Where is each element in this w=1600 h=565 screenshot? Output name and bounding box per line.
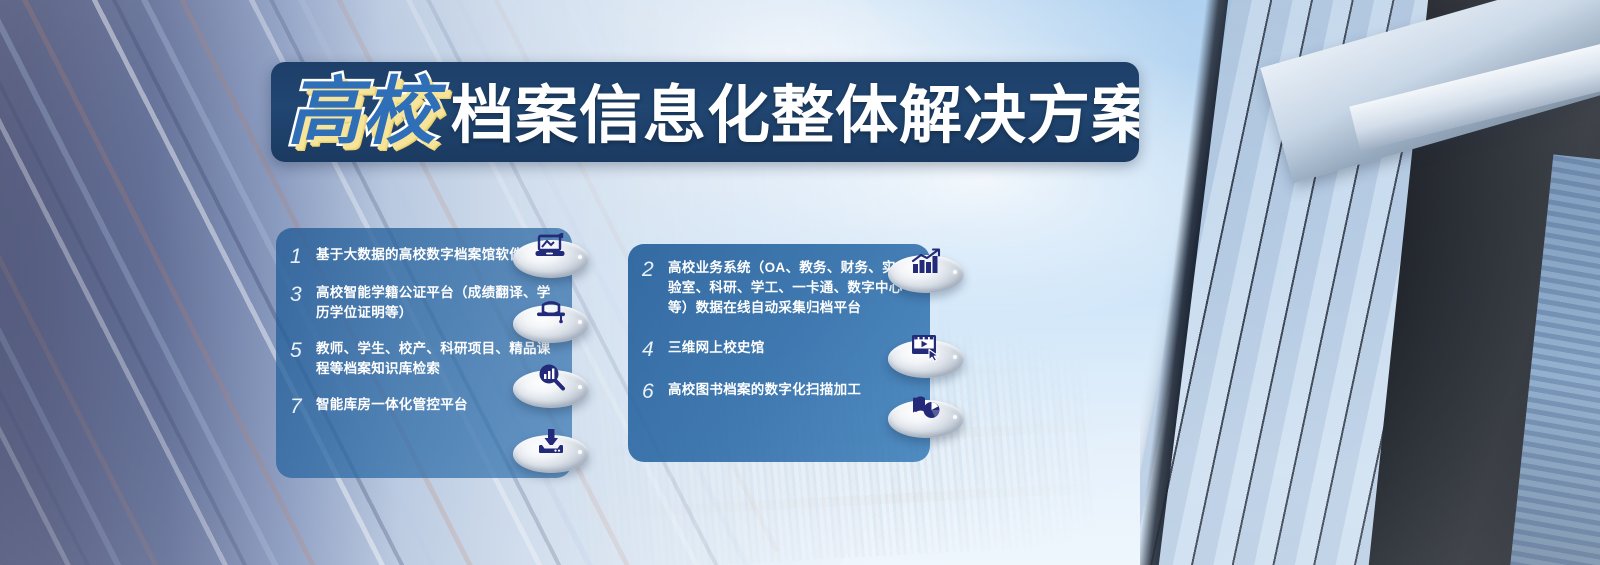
feature-item-2[interactable]: 2 高校业务系统（OA、教务、财务、实验室、科研、学工、一卡通、数字中心等）数据… (642, 258, 916, 318)
feature-icon-disc-1 (513, 226, 589, 282)
download-archive-icon (513, 421, 589, 463)
video-player-cursor-icon (888, 326, 964, 368)
feature-label-6: 高校图书档案的数字化扫描加工 (668, 380, 861, 400)
feature-icon-disc-6 (888, 386, 964, 442)
feature-number-7: 7 (290, 395, 316, 417)
feature-number-2: 2 (642, 258, 668, 280)
feature-number-6: 6 (642, 380, 668, 402)
feature-icon-disc-4 (888, 326, 964, 382)
feature-icon-disc-3 (513, 291, 589, 347)
feature-item-4[interactable]: 4 三维网上校史馆 (642, 338, 916, 360)
feature-panel-right: 2 高校业务系统（OA、教务、财务、实验室、科研、学工、一卡通、数字中心等）数据… (628, 244, 930, 462)
feature-label-4: 三维网上校史馆 (668, 338, 765, 358)
banner-title-bar: 高校 档案信息化整体解决方案供应商 (271, 62, 1139, 162)
hero-banner: 高校 档案信息化整体解决方案供应商 1 基于大数据的高校数字档案馆软件系统 3 … (0, 0, 1600, 565)
feature-icon-disc-7 (513, 421, 589, 477)
title-highlight-text: 高校 (287, 75, 437, 149)
glass-skyscraper-background (1140, 0, 1600, 565)
bar-chart-trend-icon (888, 241, 964, 283)
feature-number-4: 4 (642, 338, 668, 360)
book-scanner-icon (888, 386, 964, 428)
feature-icon-disc-5 (513, 356, 589, 412)
feature-number-3: 3 (290, 283, 316, 305)
feature-number-1: 1 (290, 245, 316, 267)
banner-title: 高校 档案信息化整体解决方案供应商 (271, 75, 1139, 149)
graduation-cap-icon (513, 291, 589, 333)
feature-label-7: 智能库房一体化管控平台 (316, 395, 468, 415)
magnifier-chart-icon (513, 356, 589, 398)
title-main-text: 档案信息化整体解决方案供应商 (451, 85, 1139, 148)
feature-icon-disc-2 (888, 241, 964, 297)
feature-item-6[interactable]: 6 高校图书档案的数字化扫描加工 (642, 380, 916, 402)
feature-label-2: 高校业务系统（OA、教务、财务、实验室、科研、学工、一卡通、数字中心等）数据在线… (668, 258, 906, 318)
laptop-icon (513, 226, 589, 268)
feature-number-5: 5 (290, 339, 316, 361)
